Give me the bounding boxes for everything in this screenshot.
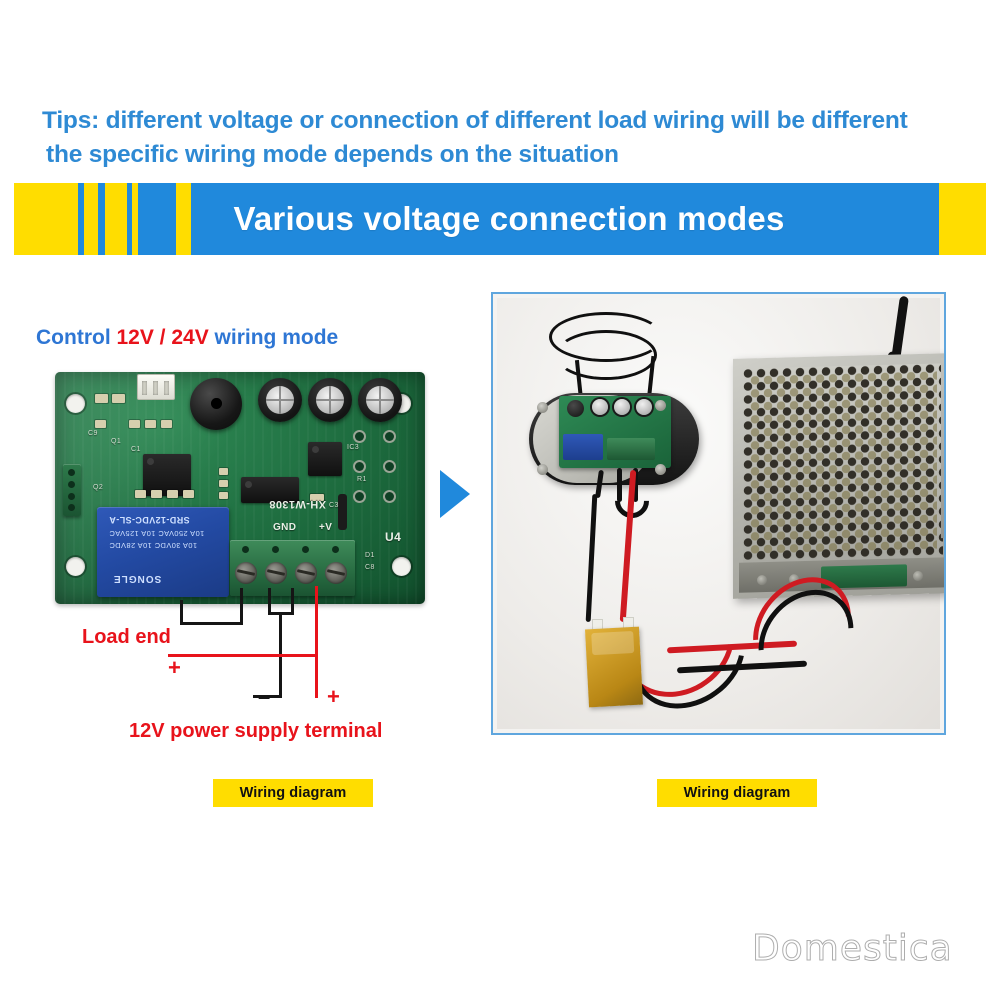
pcb-body: SRD-12VDC-SL-A 10A 250VAC 10A 125VAC 10A…: [55, 372, 425, 604]
load-wire-vertical-1: [180, 600, 183, 622]
wiring-diagram-badge-right: Wiring diagram: [657, 779, 817, 807]
relay-component: SRD-12VDC-SL-A 10A 250VAC 10A 125VAC 10A…: [97, 507, 229, 597]
silkscreen-c9: C9: [88, 430, 98, 437]
watermark-text: Domestica: [752, 928, 953, 969]
black-load-wire: [586, 494, 598, 622]
electrolytic-capacitor: [308, 378, 352, 422]
supply-plus-symbol: +: [327, 684, 340, 710]
module-terminal-block: [607, 438, 655, 460]
mounting-hole: [66, 557, 85, 576]
module-relay: [563, 434, 603, 460]
tips-text: Tips: different voltage or connection of…: [42, 104, 952, 172]
electrolytic-capacitor: [358, 378, 402, 422]
silkscreen-ic3: IC3: [347, 444, 359, 451]
arrow-right-icon: [440, 470, 470, 518]
via-column: [385, 462, 394, 471]
silkscreen-gnd: GND: [273, 522, 296, 533]
infographic-page: Tips: different voltage or connection of…: [0, 0, 1000, 1000]
heading-prefix: Control: [36, 326, 116, 349]
smd-component: [145, 420, 156, 428]
terminal-hole: [272, 546, 279, 553]
power-supply-terminal-label: 12V power supply terminal: [129, 720, 382, 743]
load-wire-vertical-2: [240, 588, 243, 624]
relay-brand-text: SONGLE: [113, 573, 161, 584]
silkscreen-c8: C8: [365, 564, 375, 571]
smd-component: [95, 420, 106, 428]
relay-rating-1: 10A 250VAC 10A 125VAC: [109, 529, 204, 538]
module-mounting-screw: [655, 400, 666, 411]
smd-component: [219, 468, 228, 475]
smd-component: [161, 420, 172, 428]
smd-component: [112, 394, 125, 403]
load-end-label: Load end: [82, 626, 171, 649]
positive-wire-horizontal: [168, 654, 318, 657]
module-mounting-screw: [537, 464, 548, 475]
wiring-diagram-badge-left: Wiring diagram: [213, 779, 373, 807]
buzzer-component: [190, 378, 242, 430]
via-column: [355, 462, 364, 471]
silkscreen-q2: Q2: [93, 484, 103, 491]
mounting-hole: [392, 557, 411, 576]
supply-minus-symbol: –: [258, 684, 270, 710]
module-mounting-screw: [655, 464, 666, 475]
smd-component: [151, 490, 162, 498]
relay-rating-2: 10A 30VDC 10A 28VDC: [109, 541, 197, 550]
smd-component: [129, 420, 140, 428]
smd-component: [219, 480, 228, 487]
silkscreen-c1: C1: [131, 446, 141, 453]
silkscreen-r1: R1: [357, 476, 367, 483]
switching-power-supply: [733, 353, 946, 599]
via-column: [355, 492, 364, 501]
load-wire-horizontal: [180, 622, 243, 625]
probe-connector: [137, 374, 175, 400]
via-column: [355, 432, 364, 441]
tips-line-1: Tips: different voltage or connection of…: [42, 107, 908, 134]
module-mounting-screw: [537, 402, 548, 413]
regulator-ic: [308, 442, 342, 476]
wiring-photo-panel: [491, 292, 946, 735]
tips-line-2: the specific wiring mode depends on the …: [46, 138, 952, 172]
module-capacitor: [636, 399, 652, 415]
terminal-hole: [332, 546, 339, 553]
pin-hole: [68, 493, 75, 500]
silkscreen-q1: Q1: [111, 438, 121, 445]
terminal-hole: [302, 546, 309, 553]
smd-component: [183, 490, 194, 498]
positive-wire-vertical: [315, 586, 318, 698]
photo-background: [497, 298, 940, 729]
module-capacitor: [592, 399, 608, 415]
terminal-screw: [265, 562, 287, 584]
terminal-hole: [242, 546, 249, 553]
neutral-wire-left: [268, 588, 271, 614]
heading-suffix: wiring mode: [209, 326, 339, 349]
smd-component: [95, 394, 108, 403]
control-mode-heading: Control 12V / 24V wiring mode: [36, 326, 338, 350]
psu-mounting-flange: [941, 358, 946, 538]
heading-voltage: 12V / 24V: [116, 326, 208, 349]
left-pin-header: [63, 464, 81, 516]
terminal-screw: [235, 562, 257, 584]
circuit-board-illustration: SRD-12VDC-SL-A 10A 250VAC 10A 125VAC 10A…: [55, 372, 425, 612]
module-capacitor: [614, 399, 630, 415]
terminal-screw: [325, 562, 347, 584]
silkscreen-d1: D1: [365, 552, 375, 559]
pin-hole: [68, 469, 75, 476]
terminal-screw: [295, 562, 317, 584]
smd-component: [167, 490, 178, 498]
silkscreen-u4: U4: [385, 530, 401, 544]
psu-perforation-highlight: [749, 370, 937, 557]
silkscreen-vplus: +V: [319, 522, 332, 533]
mounting-hole: [66, 394, 85, 413]
electrolytic-capacitor: [258, 378, 302, 422]
kapton-heating-film: [585, 627, 643, 708]
silkscreen-part-number: XH-W1308: [269, 498, 326, 510]
through-hole-resistor: [338, 494, 347, 530]
temperature-probe-cable-loop: [555, 330, 657, 380]
via-column: [385, 432, 394, 441]
module-buzzer: [567, 400, 584, 417]
section-banner: Various voltage connection modes: [14, 183, 986, 255]
neutral-wire-right: [291, 588, 294, 614]
smd-component: [219, 492, 228, 499]
pin-hole: [68, 504, 75, 511]
load-plus-symbol: +: [168, 655, 181, 681]
banner-title: Various voltage connection modes: [14, 183, 986, 255]
pin-hole: [68, 481, 75, 488]
smd-component: [135, 490, 146, 498]
via-column: [385, 492, 394, 501]
relay-model-text: SRD-12VDC-SL-A: [109, 515, 190, 525]
silkscreen-c3: C3: [329, 502, 339, 509]
